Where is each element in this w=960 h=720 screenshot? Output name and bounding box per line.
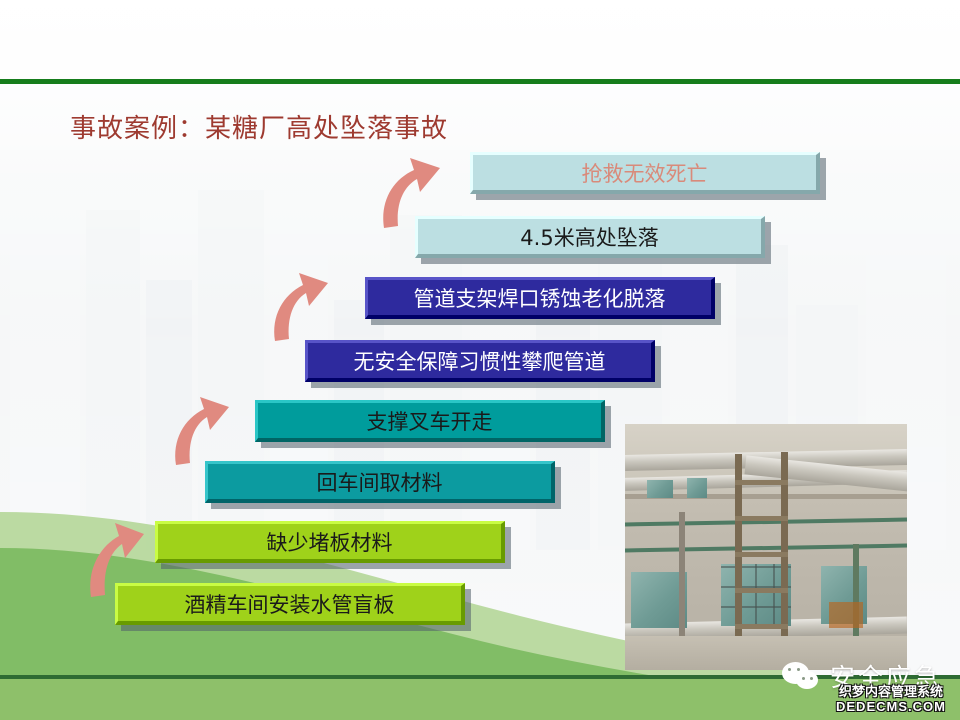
header-rule [0,79,960,84]
wechat-icon [782,660,822,692]
flow-step-face: 无安全保障习惯性攀爬管道 [305,340,655,382]
photo-window [647,480,673,498]
slide-canvas: 事故案例：某糖厂高处坠落事故 抢救无效死亡4.5米高处坠落管道支架焊口锈蚀老化脱… [0,0,960,720]
photo-window [687,478,707,498]
flow-step-label: 管道支架焊口锈蚀老化脱落 [414,283,666,313]
photo-ladder-rung [735,552,788,557]
photo-ladder-rung [735,516,788,521]
flow-step-label: 4.5米高处坠落 [520,222,658,252]
flow-step-face: 支撑叉车开走 [255,400,605,442]
flow-step-box[interactable]: 支撑叉车开走 [255,400,605,442]
accident-site-photo [625,424,907,670]
flow-step-face: 缺少堵板材料 [155,521,505,563]
flow-step-face: 回车间取材料 [205,461,555,503]
flow-step-box[interactable]: 回车间取材料 [205,461,555,503]
flow-step-face: 4.5米高处坠落 [415,216,765,258]
watermark: 织梦内容管理系统 DEDECMS.COM [836,686,946,713]
photo-ladder-rung [735,624,788,629]
photo-ladder-rung [735,480,788,485]
flow-step-box[interactable]: 4.5米高处坠落 [415,216,765,258]
flow-step-label: 支撑叉车开走 [367,406,493,436]
flow-step-label: 缺少堵板材料 [267,527,393,557]
flow-arrow-icon [163,386,233,468]
flow-step-face: 管道支架焊口锈蚀老化脱落 [365,277,715,319]
photo-ladder-rung [735,588,788,593]
flow-step-label: 回车间取材料 [317,467,443,497]
flow-step-label: 无安全保障习惯性攀爬管道 [354,346,606,376]
flow-step-label: 酒精车间安装水管盲板 [185,589,395,619]
flow-arrow-icon [262,262,332,344]
photo-equipment [829,602,863,628]
watermark-cn: 织梦内容管理系统 [836,686,946,699]
flow-step-face: 抢救无效死亡 [470,152,820,194]
flow-step-box[interactable]: 无安全保障习惯性攀爬管道 [305,340,655,382]
flow-step-box[interactable]: 酒精车间安装水管盲板 [115,583,465,625]
page-title: 事故案例：某糖厂高处坠落事故 [70,108,448,145]
watermark-en: DEDECMS.COM [836,700,946,713]
flow-step-box[interactable]: 管道支架焊口锈蚀老化脱落 [365,277,715,319]
flow-step-face: 酒精车间安装水管盲板 [115,583,465,625]
flow-step-label: 抢救无效死亡 [582,158,708,188]
flow-step-box[interactable]: 抢救无效死亡 [470,152,820,194]
flow-step-box[interactable]: 缺少堵板材料 [155,521,505,563]
